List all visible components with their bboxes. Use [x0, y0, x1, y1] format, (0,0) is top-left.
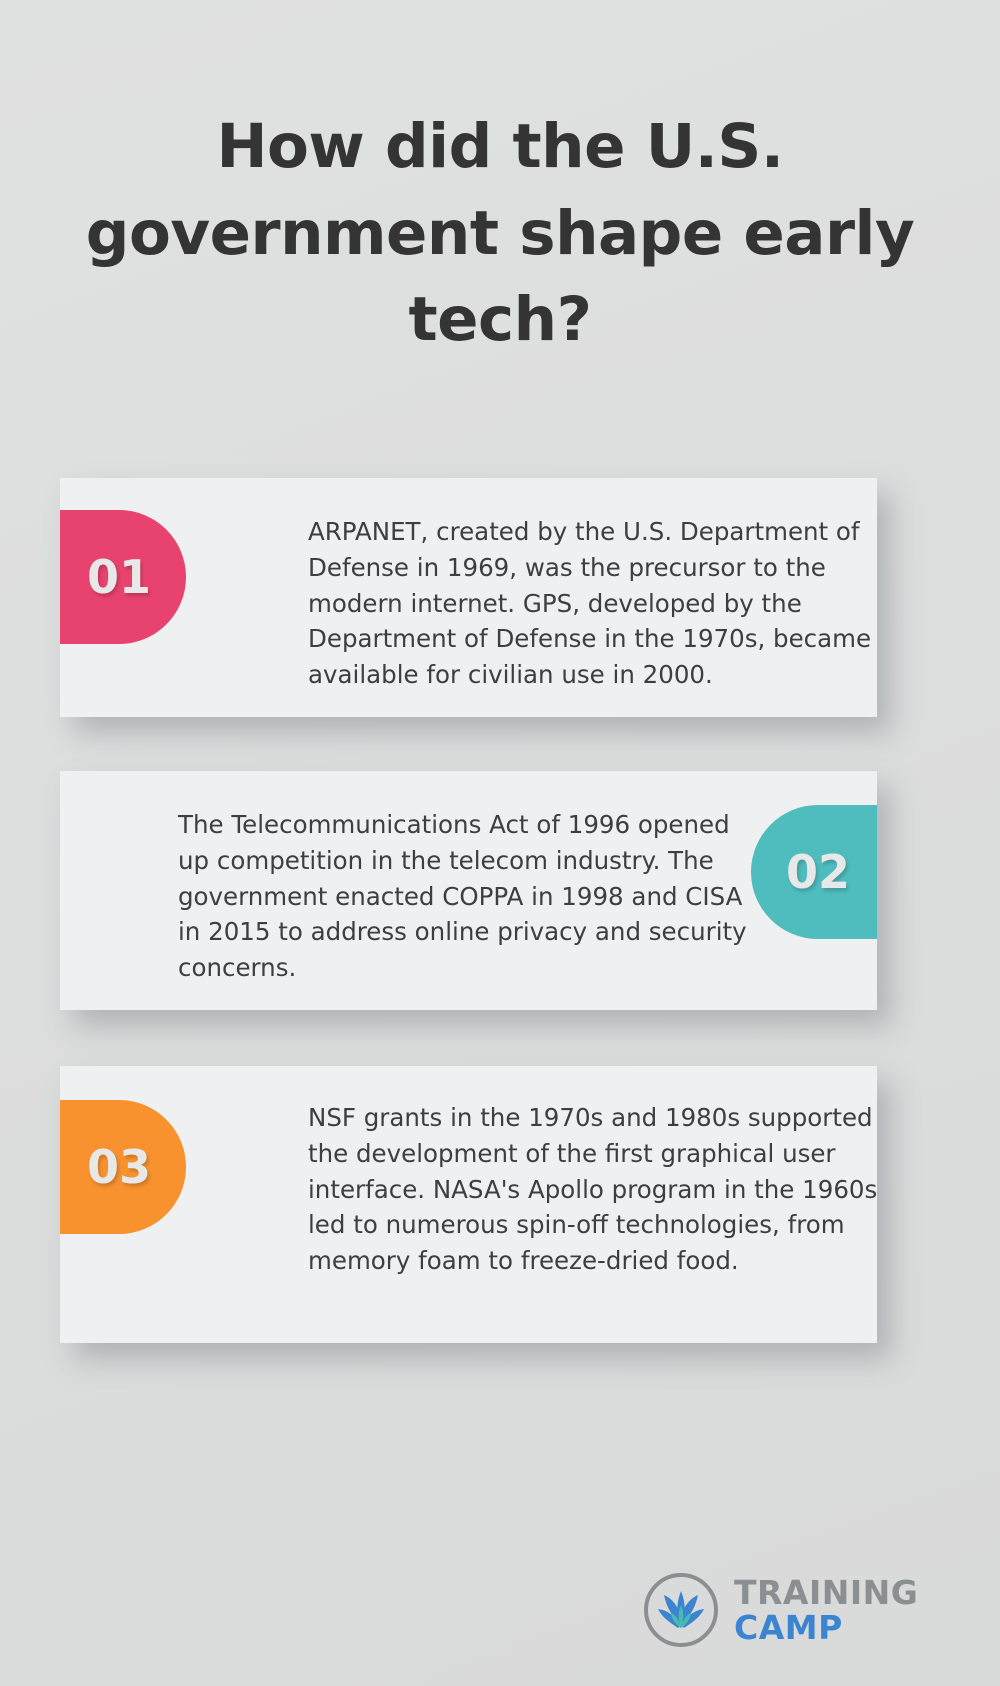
page-title-text: How did the U.S. government shape early … [80, 104, 920, 364]
card-body-text-03: NSF grants in the 1970s and 1980s suppor… [308, 1100, 877, 1279]
card-number-label: 01 [87, 550, 151, 604]
card-number-badge-01: 01 [60, 510, 186, 644]
card-number-label: 02 [786, 845, 850, 899]
brand-logo-text: TRAINING CAMP [734, 1577, 918, 1642]
card-body-text-01: ARPANET, created by the U.S. Department … [308, 514, 877, 693]
brand-logo: TRAINING CAMP [640, 1562, 900, 1658]
card-body-text-02: The Telecommunications Act of 1996 opene… [178, 807, 758, 986]
info-card-03: 03 NSF grants in the 1970s and 1980s sup… [60, 1066, 877, 1343]
brand-name-line1: TRAINING [734, 1577, 918, 1608]
card-number-badge-03: 03 [60, 1100, 186, 1234]
infographic-page: How did the U.S. government shape early … [0, 0, 1000, 1686]
info-card-02: 02 The Telecommunications Act of 1996 op… [60, 771, 877, 1010]
card-number-label: 03 [87, 1140, 151, 1194]
page-title: How did the U.S. government shape early … [80, 104, 920, 364]
card-number-badge-02: 02 [751, 805, 877, 939]
brand-name-line2: CAMP [734, 1612, 918, 1643]
info-card-01: 01 ARPANET, created by the U.S. Departme… [60, 478, 877, 717]
training-camp-emblem-icon [640, 1569, 722, 1651]
